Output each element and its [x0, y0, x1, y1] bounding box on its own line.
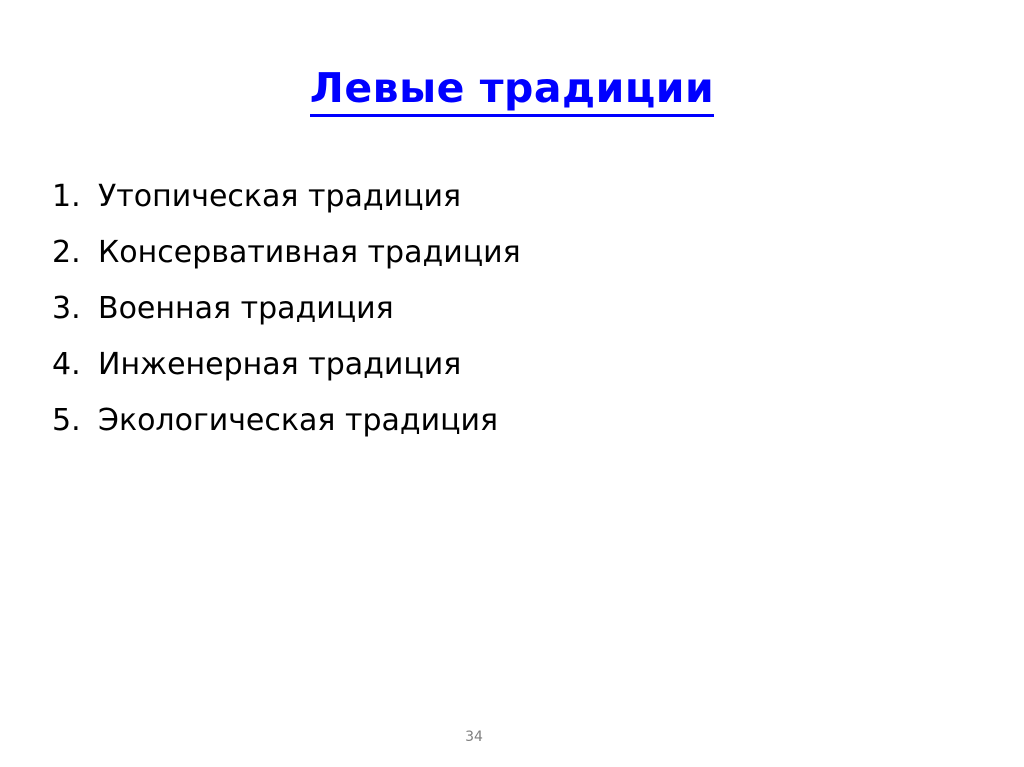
numbered-list: 1. Утопическая традиция 2. Консервативна…	[52, 180, 912, 460]
list-item-number: 5.	[52, 404, 98, 437]
list-item: 5. Экологическая традиция	[52, 404, 912, 437]
list-item-label: Утопическая традиция	[98, 180, 461, 213]
slide: Левые традиции 1. Утопическая традиция 2…	[0, 0, 1024, 767]
slide-title: Левые традиции	[0, 64, 1024, 117]
page-number-text: 34	[465, 729, 483, 745]
page-number: 34	[0, 729, 1024, 745]
list-item: 2. Консервативная традиция	[52, 236, 912, 269]
list-item: 1. Утопическая традиция	[52, 180, 912, 213]
list-item: 4. Инженерная традиция	[52, 348, 912, 381]
list-item-label: Инженерная традиция	[98, 348, 461, 381]
list-item: 3. Военная традиция	[52, 292, 912, 325]
list-item-label: Военная традиция	[98, 292, 394, 325]
slide-title-text: Левые традиции	[310, 65, 714, 117]
list-item-number: 1.	[52, 180, 98, 213]
list-item-number: 4.	[52, 348, 98, 381]
list-item-label: Экологическая традиция	[98, 404, 498, 437]
list-item-label: Консервативная традиция	[98, 236, 521, 269]
list-item-number: 3.	[52, 292, 98, 325]
list-item-number: 2.	[52, 236, 98, 269]
